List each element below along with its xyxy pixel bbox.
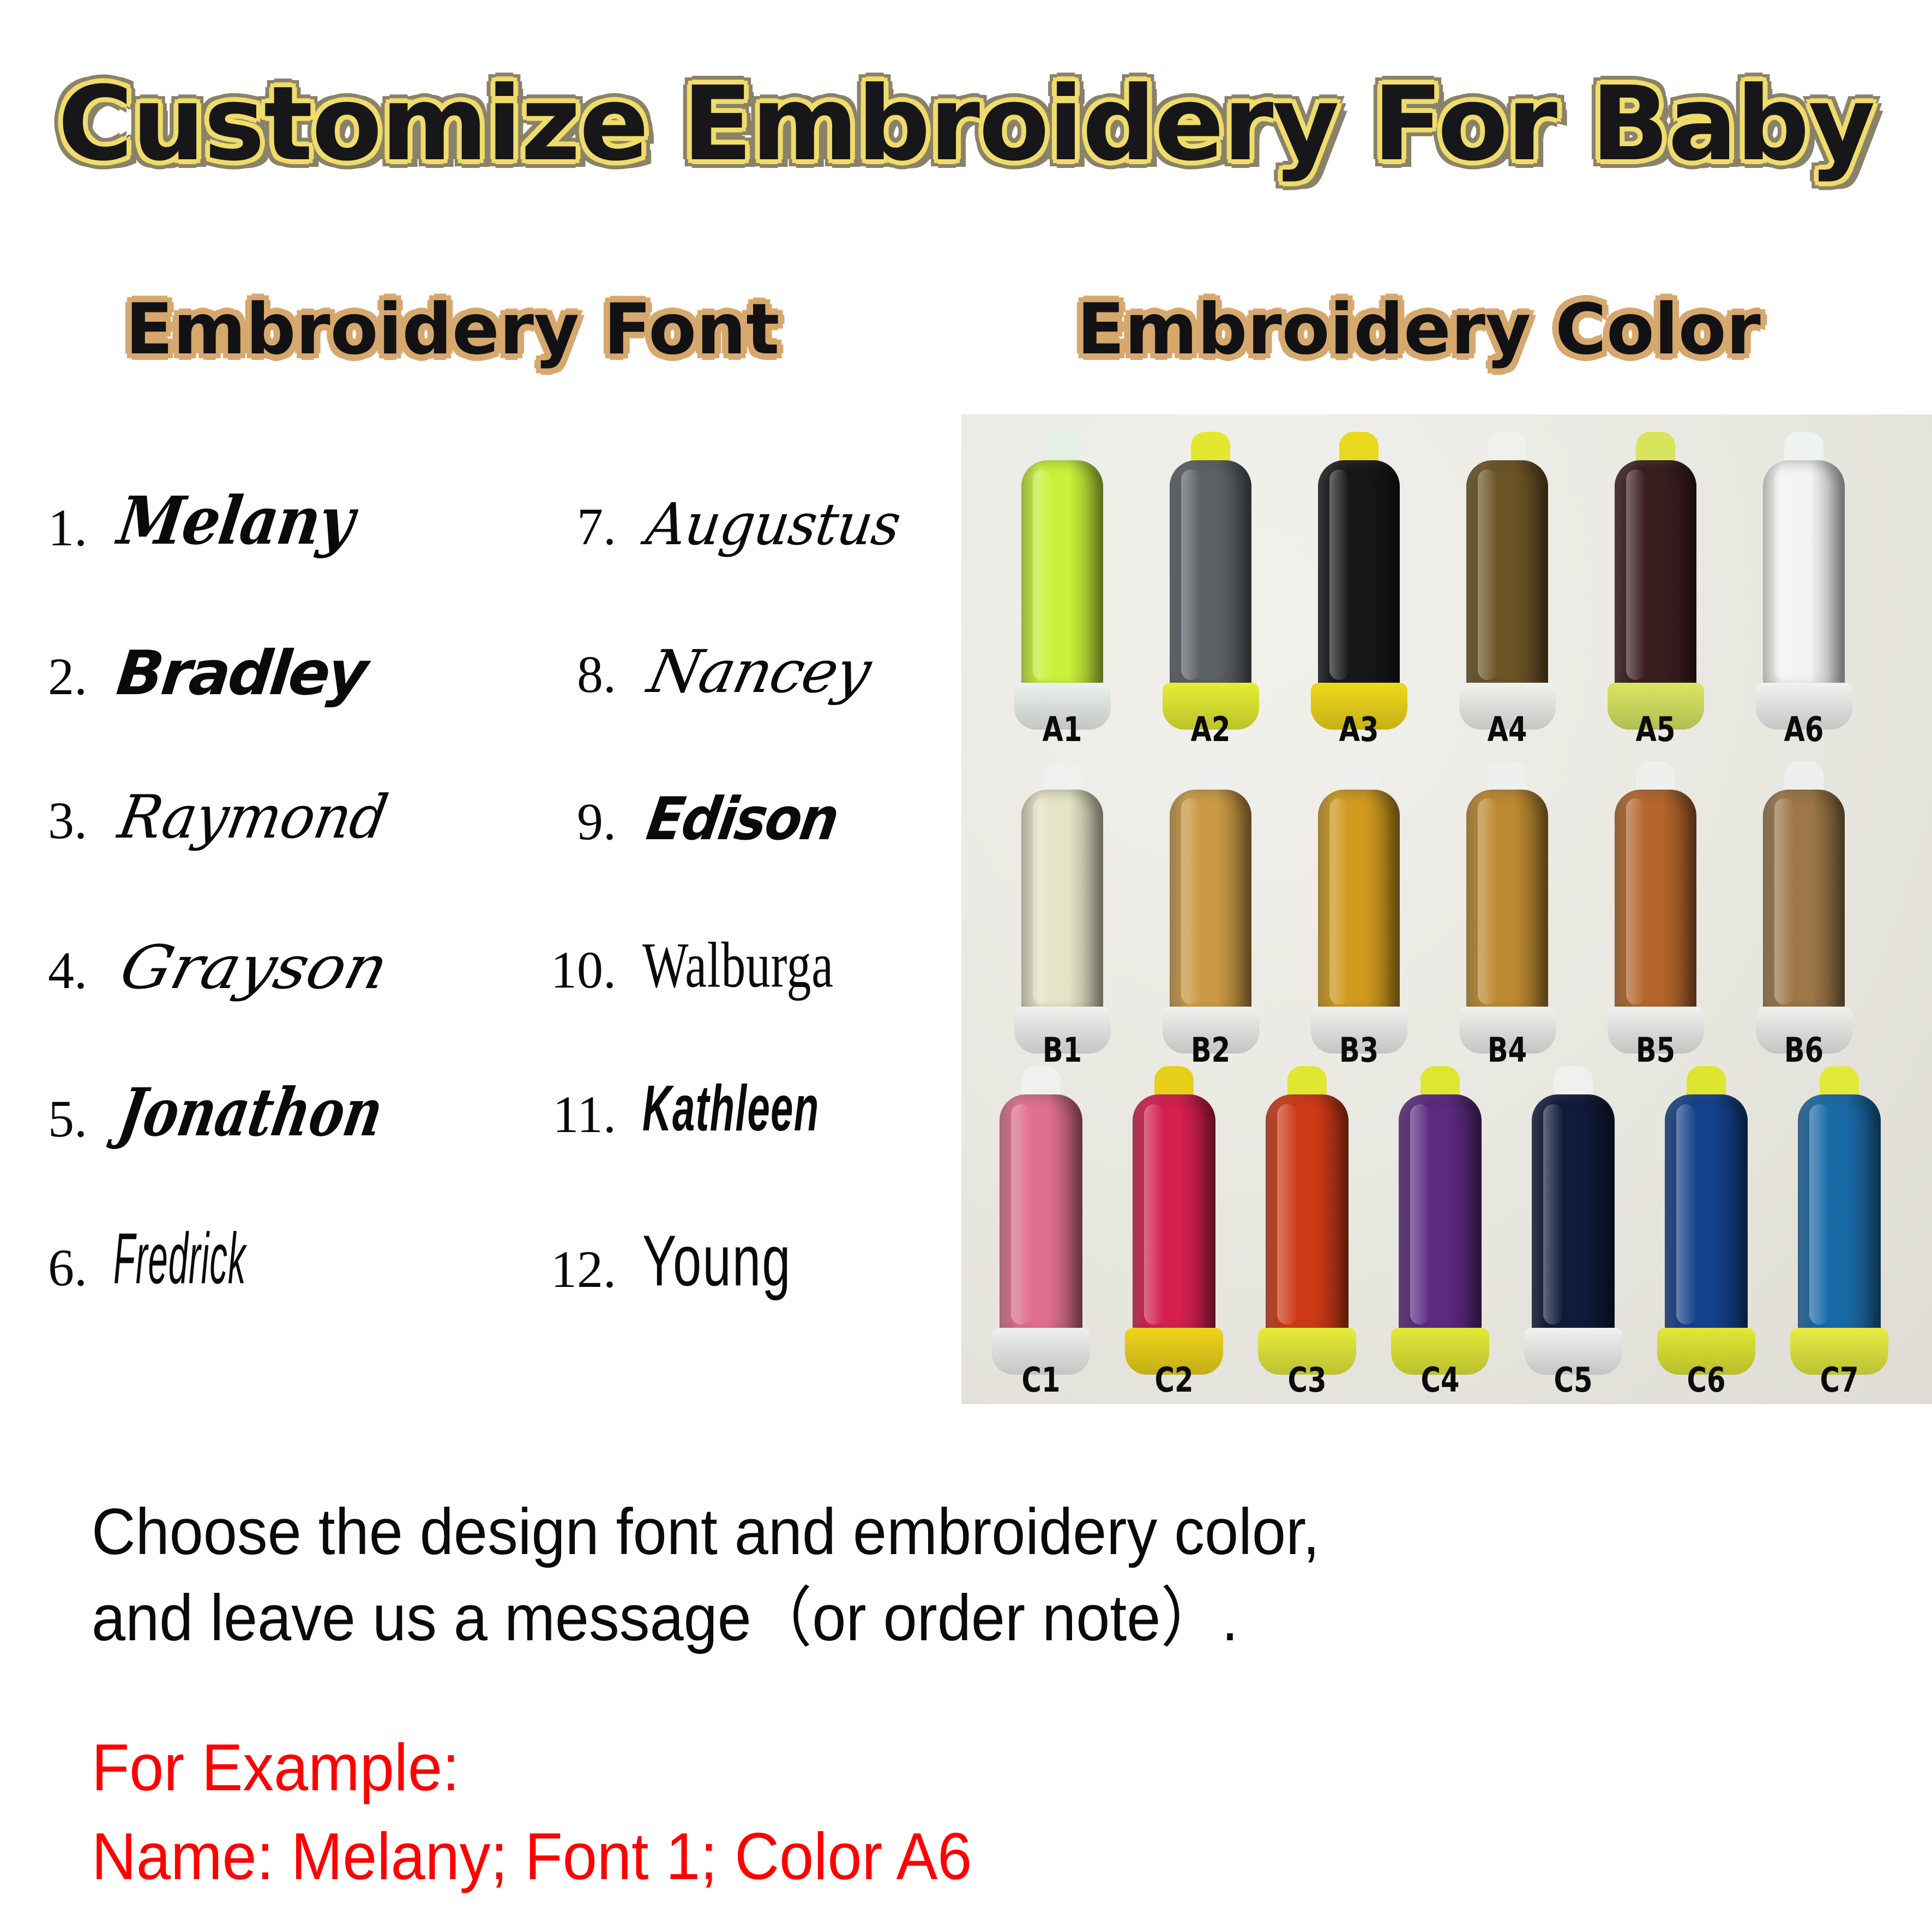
thread-spool-b6[interactable] <box>1763 790 1845 1013</box>
spool-sheen <box>1181 798 1201 1004</box>
embroidery-color-heading: Embroidery Color <box>1077 289 1761 370</box>
font-option-sample: Walburga <box>642 928 834 1003</box>
font-option-sample: Augustus <box>642 491 904 558</box>
thread-row-b: B1B2B3B4B5B6 <box>961 753 1932 1074</box>
thread-spool-c5[interactable] <box>1532 1094 1615 1334</box>
spool-sheen <box>1676 1104 1696 1325</box>
instructions-text: Choose the design font and embroidery co… <box>92 1489 1714 1662</box>
thread-color-label-c4: C4 <box>1403 1360 1477 1400</box>
font-option-9[interactable]: 9. Edison <box>523 785 852 853</box>
spool-sheen <box>1410 1104 1430 1325</box>
font-option-12[interactable]: 12. Young <box>507 1227 834 1302</box>
thread-spool-b2[interactable] <box>1170 790 1251 1013</box>
thread-color-label-a5: A5 <box>1618 709 1693 749</box>
spool-sheen <box>1478 798 1497 1004</box>
thread-color-label-b2: B2 <box>1173 1030 1248 1070</box>
font-option-11[interactable]: 11. Kathleen <box>507 1080 895 1146</box>
thread-spool-a3[interactable] <box>1318 460 1400 689</box>
font-option-number: 7. <box>523 496 616 557</box>
font-option-3[interactable]: 3. Raymond <box>22 785 380 852</box>
font-option-6[interactable]: 6. Fredrick <box>22 1227 351 1300</box>
spool-sheen <box>1626 798 1646 1004</box>
thread-color-label-c3: C3 <box>1270 1360 1344 1400</box>
font-option-8[interactable]: 8. Nancey <box>523 638 862 706</box>
font-option-sample: Nancey <box>642 638 876 706</box>
thread-spool-c6[interactable] <box>1665 1094 1748 1334</box>
example-text: For Example: Name: Melany; Font 1; Color… <box>92 1723 1714 1901</box>
font-option-sample: Kathleen <box>642 1072 820 1146</box>
font-option-number: 10. <box>507 940 616 1000</box>
spool-sheen <box>1277 1104 1297 1325</box>
thread-color-label-b1: B1 <box>1025 1030 1099 1070</box>
font-option-number: 8. <box>523 644 616 705</box>
thread-color-label-a2: A2 <box>1173 709 1248 749</box>
example-order-note: Name: Melany; Font 1; Color A6 <box>92 1812 1714 1901</box>
thread-color-label-b6: B6 <box>1767 1030 1841 1070</box>
thread-color-label-b3: B3 <box>1322 1030 1396 1070</box>
thread-spool-a5[interactable] <box>1615 460 1696 689</box>
thread-color-label-b4: B4 <box>1470 1030 1544 1070</box>
font-option-number: 5. <box>22 1088 87 1149</box>
thread-spool-c7[interactable] <box>1798 1094 1881 1334</box>
thread-spool-a4[interactable] <box>1466 460 1548 689</box>
spool-sheen <box>1181 470 1201 680</box>
thread-spool-c4[interactable] <box>1399 1094 1482 1334</box>
embroidery-font-heading: Embroidery Font <box>125 289 779 370</box>
font-option-sample: Grayson <box>113 932 395 1002</box>
spool-sheen <box>1478 470 1497 680</box>
thread-spool-b3[interactable] <box>1318 790 1400 1013</box>
instructions-line-1: Choose the design font and embroidery co… <box>92 1489 1714 1575</box>
font-option-number: 2. <box>22 646 87 707</box>
thread-spool-b5[interactable] <box>1615 790 1696 1013</box>
thread-spool-c3[interactable] <box>1266 1094 1349 1334</box>
thread-color-label-c1: C1 <box>1004 1360 1078 1400</box>
font-option-number: 3. <box>22 790 87 851</box>
thread-color-label-c7: C7 <box>1802 1360 1876 1400</box>
font-option-sample: Young <box>642 1219 792 1302</box>
thread-spool-a1[interactable] <box>1021 460 1103 689</box>
thread-color-label-c6: C6 <box>1669 1360 1743 1400</box>
spool-sheen <box>1774 798 1794 1004</box>
font-option-number: 4. <box>22 940 87 1001</box>
spool-sheen <box>1033 470 1052 680</box>
instructions-line-2: and leave us a message（or order note）. <box>92 1575 1714 1661</box>
page-title: Customize Embroidery For Baby <box>0 64 1932 184</box>
thread-color-label-a1: A1 <box>1025 709 1099 749</box>
font-option-10[interactable]: 10. Walburga <box>507 932 882 1003</box>
font-option-sample: Jonathon <box>113 1074 389 1151</box>
thread-spool-a2[interactable] <box>1170 460 1251 689</box>
example-label: For Example: <box>92 1723 1714 1812</box>
spool-sheen <box>1329 470 1349 680</box>
spool-sheen <box>1626 470 1646 680</box>
font-option-sample: Melany <box>113 483 358 559</box>
thread-color-label-a4: A4 <box>1470 709 1544 749</box>
font-option-number: 1. <box>22 497 87 558</box>
thread-color-label-a3: A3 <box>1322 709 1396 749</box>
spool-sheen <box>1011 1104 1031 1325</box>
thread-spool-c1[interactable] <box>1000 1094 1082 1334</box>
font-option-4[interactable]: 4. Grayson <box>22 932 365 1002</box>
spool-sheen <box>1774 470 1794 680</box>
thread-row-c: C1C2C3C4C5C6C7 <box>961 1066 1932 1404</box>
thread-row-a: A1A2A3A4A5A6 <box>961 426 1932 754</box>
spool-sheen <box>1543 1104 1563 1325</box>
thread-spool-c2[interactable] <box>1133 1094 1215 1334</box>
font-option-sample: Raymond <box>113 782 393 852</box>
font-option-sample: Fredrick <box>113 1217 246 1300</box>
font-option-sample: Bradley <box>113 638 369 709</box>
font-option-sample: Edison <box>642 785 842 853</box>
thread-color-label-a6: A6 <box>1767 709 1841 749</box>
spool-sheen <box>1033 798 1052 1004</box>
font-option-number: 9. <box>523 791 616 852</box>
thread-spool-b1[interactable] <box>1021 790 1103 1013</box>
thread-color-chart-photo: A1A2A3A4A5A6 B1B2B3B4B5B6 C1C2C3C4C5C6C7 <box>961 414 1932 1404</box>
spool-sheen <box>1809 1104 1829 1325</box>
thread-color-label-b5: B5 <box>1618 1030 1693 1070</box>
thread-spool-b4[interactable] <box>1466 790 1548 1013</box>
thread-color-label-c5: C5 <box>1536 1360 1610 1400</box>
font-option-list: 1. Melany 2. Bradley 3. Raymond 4. Grays… <box>0 447 960 1331</box>
spool-sheen <box>1144 1104 1164 1325</box>
thread-color-label-c2: C2 <box>1137 1360 1211 1400</box>
font-option-number: 11. <box>507 1084 616 1145</box>
spool-sheen <box>1329 798 1349 1004</box>
thread-spool-a6[interactable] <box>1763 460 1845 689</box>
font-option-1[interactable]: 1. Melany <box>22 491 347 559</box>
font-option-7[interactable]: 7. Augustus <box>523 491 911 558</box>
font-option-5[interactable]: 5. Jonathon <box>22 1080 425 1151</box>
font-option-number: 12. <box>507 1239 616 1299</box>
font-option-2[interactable]: 2. Bradley <box>22 638 362 709</box>
font-option-number: 6. <box>22 1237 87 1298</box>
